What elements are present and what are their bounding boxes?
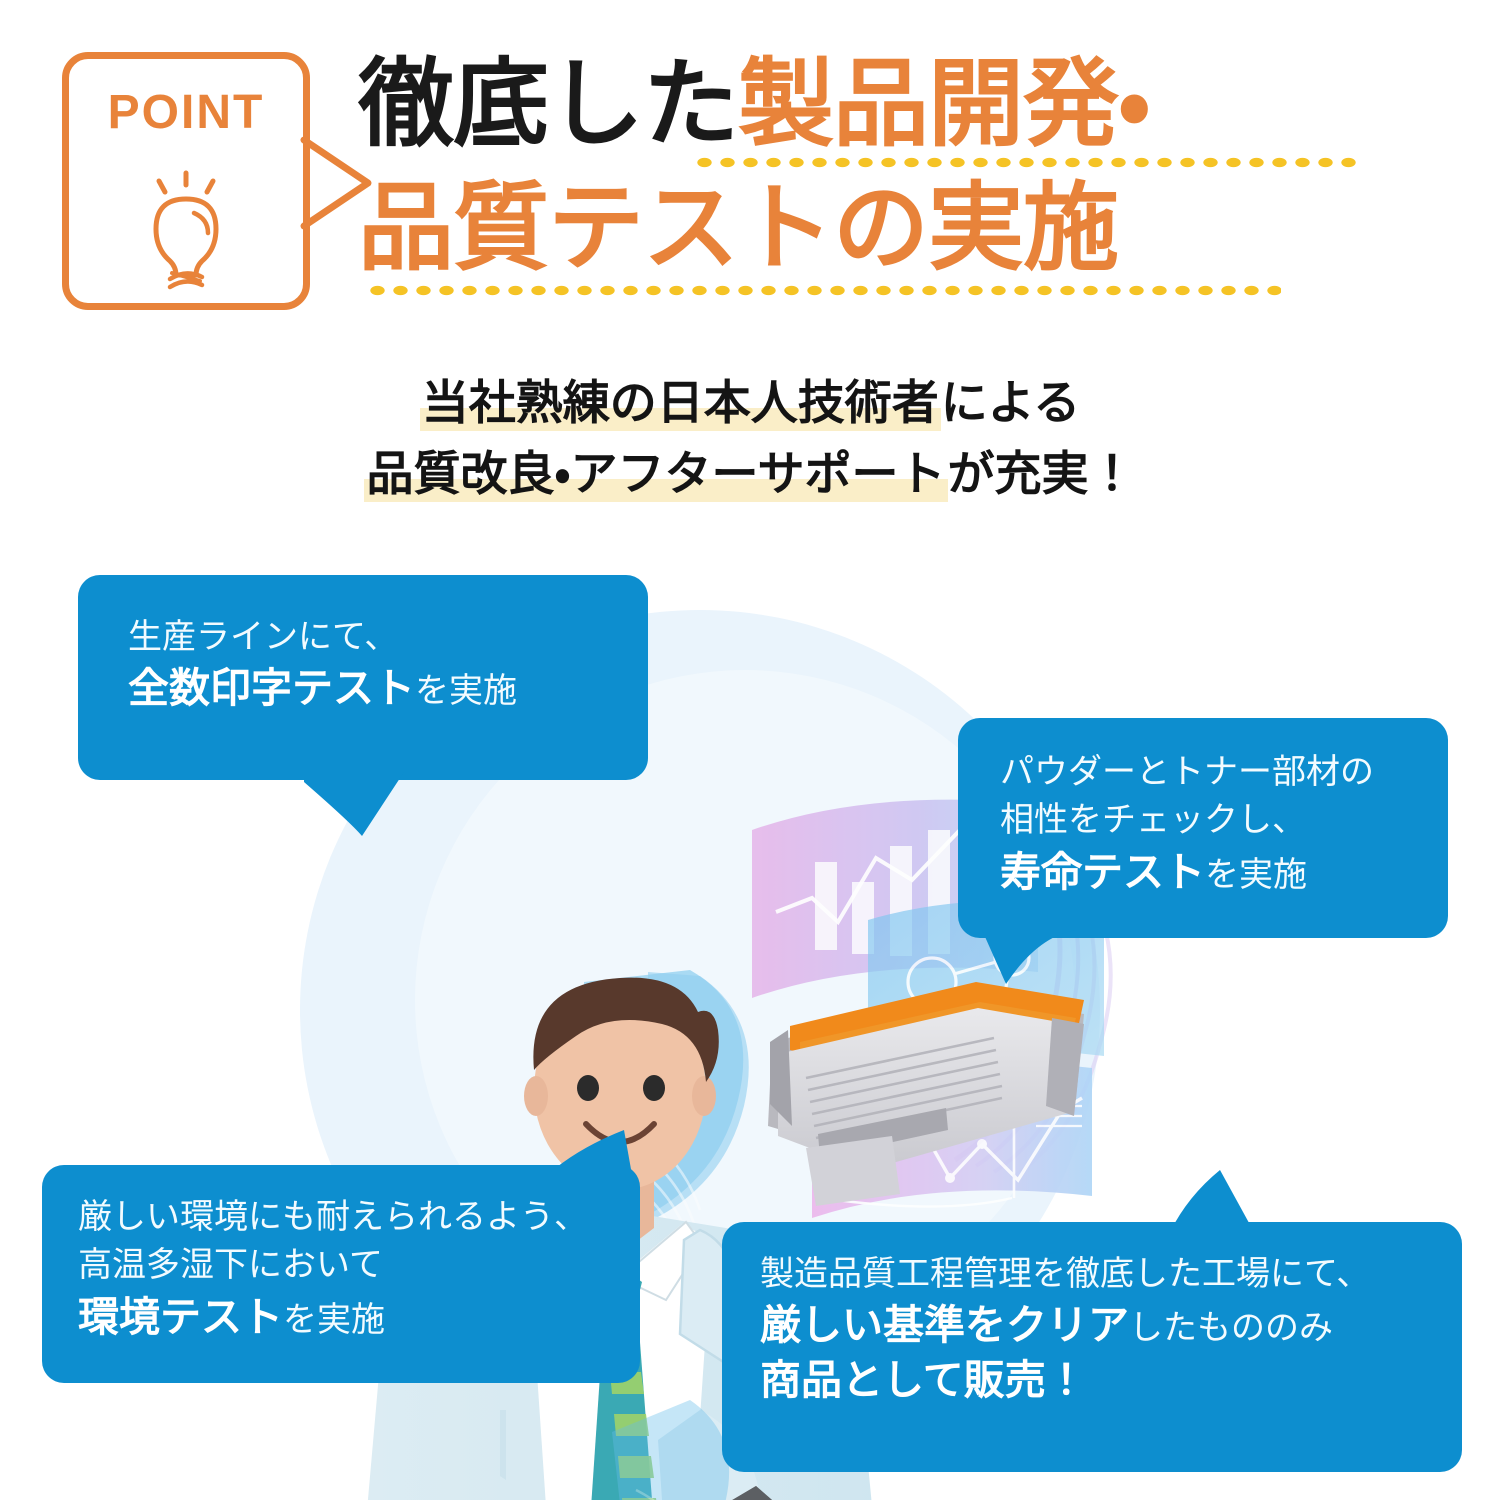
bubble1-line2-bold: 全数印字テスト xyxy=(128,664,415,712)
bubble4-tail-icon xyxy=(1168,1168,1278,1234)
bubble2-tail-icon xyxy=(980,928,1080,988)
bubble4-line-2: 厳しい基準をクリアしたもののみ xyxy=(760,1298,1462,1352)
bubble2-line3-rest: を実施 xyxy=(1205,855,1307,895)
bubble3-line-3: 環境テストを実施 xyxy=(78,1290,640,1344)
subtitle: 当社熟練の日本人技術者による 品質改良・アフターサポートが充実！ xyxy=(0,368,1500,511)
badge-arrow-icon xyxy=(296,128,416,238)
bubble3-line-1: 厳しい環境にも耐えられるよう、 xyxy=(78,1193,640,1241)
subtitle-line2-highlight: 品質改良・アフターサポート xyxy=(364,447,947,502)
bubble3-line3-rest: を実施 xyxy=(283,1300,385,1340)
bubble4-line2-rest: したもののみ xyxy=(1129,1308,1333,1348)
bubble3-tail-icon xyxy=(528,1128,638,1188)
headline-line-2: 品質テストの実施 xyxy=(358,170,1368,287)
point-label: POINT xyxy=(69,85,303,140)
infographic-canvas: POINT 徹底した製品開発・ 品質テストの実施 当社熟練の日本人技術者による … xyxy=(0,0,1500,1500)
bubble-environment-test: 厳しい環境にも耐えられるよう、 高温多湿下において 環境テストを実施 xyxy=(42,1165,640,1383)
bubble2-line-1: パウダーとトナー部材の xyxy=(1000,748,1448,796)
bubble-life-test: パウダーとトナー部材の 相性をチェックし、 寿命テストを実施 xyxy=(958,718,1448,938)
subtitle-line-1: 当社熟練の日本人技術者による xyxy=(0,368,1500,439)
bubble-print-test: 生産ラインにて、 全数印字テストを実施 xyxy=(78,575,648,780)
headline-line1-orange: 製品開発・ xyxy=(738,48,1150,160)
headline-line-1: 徹底した製品開発・ xyxy=(358,46,1368,163)
bubble2-line-2: 相性をチェックし、 xyxy=(1000,796,1448,844)
subtitle-line-2: 品質改良・アフターサポートが充実！ xyxy=(0,439,1500,510)
headline: 徹底した製品開発・ 品質テストの実施 xyxy=(358,46,1368,298)
bubble1-line-1: 生産ラインにて、 xyxy=(128,613,648,661)
bubble4-line2-bold: 厳しい基準をクリア xyxy=(760,1301,1129,1349)
bubble2-line-3: 寿命テストを実施 xyxy=(1000,845,1448,899)
bubble1-tail-icon xyxy=(300,770,410,840)
subtitle-line1-highlight: 当社熟練の日本人技術者 xyxy=(420,376,941,431)
bubble1-line2-rest: を実施 xyxy=(415,671,517,711)
bubble4-line-1: 製造品質工程管理を徹底した工場にて、 xyxy=(760,1250,1462,1298)
subtitle-line2-rest: が充実！ xyxy=(948,447,1136,502)
bubble3-line-2: 高温多湿下において xyxy=(78,1241,640,1289)
bubble4-line-3: 商品として販売！ xyxy=(760,1353,1462,1407)
bubble4-line3-bold: 商品として販売！ xyxy=(760,1356,1087,1404)
bubble3-line3-bold: 環境テスト xyxy=(78,1293,283,1341)
bubble-factory-quality: 製造品質工程管理を徹底した工場にて、 厳しい基準をクリアしたもののみ 商品として… xyxy=(722,1222,1462,1472)
subtitle-line1-rest: による xyxy=(941,376,1081,431)
bubble2-line3-bold: 寿命テスト xyxy=(1000,848,1205,896)
bubble1-line-2: 全数印字テストを実施 xyxy=(128,661,648,715)
lightbulb-icon xyxy=(126,163,246,293)
point-badge: POINT xyxy=(62,52,310,310)
